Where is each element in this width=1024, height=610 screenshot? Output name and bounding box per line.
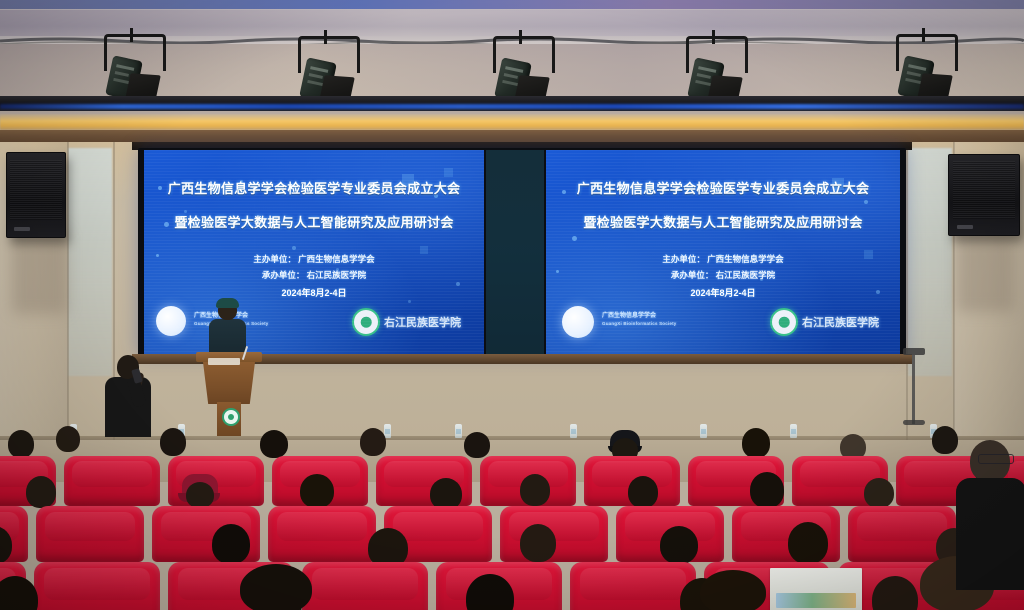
- slide-left: 广西生物信息学学会检验医学专业委员会成立大会 暨检验医学大数据与人工智能研究及应…: [144, 150, 484, 354]
- slide-organizer-right: 主办单位： 广西生物信息学学会: [546, 253, 900, 265]
- wall-glass-strip-left: [68, 148, 112, 376]
- foreground-head: [700, 570, 766, 610]
- society-logo-cn-right: 广西生物信息学学会: [602, 313, 656, 319]
- university-emblem-right: [770, 308, 798, 336]
- slide-title-line-2-right: 暨检验医学大数据与人工智能研究及应用研讨会: [546, 212, 900, 231]
- ceiling-sheen: [0, 10, 1024, 36]
- slide-date-left: 2024年8月2-4日: [144, 286, 484, 299]
- standing-attendee: [960, 440, 1024, 590]
- auditorium-scene: 广西生物信息学学会检验医学专业委员会成立大会 暨检验医学大数据与人工智能研究及应…: [0, 0, 1024, 610]
- slide-moon-graphic-left: [156, 306, 186, 336]
- glasses-icon: [978, 454, 1014, 464]
- slide-moon-graphic-right: [562, 306, 594, 338]
- slide-date-right: 2024年8月2-4日: [546, 286, 900, 299]
- university-name-left: 右江民族医学院: [384, 314, 461, 330]
- led-panel-center-unlit: [486, 150, 544, 354]
- slide-right: 广西生物信息学学会检验医学专业委员会成立大会 暨检验医学大数据与人工智能研究及应…: [546, 150, 900, 354]
- slide-title-line-1: 广西生物信息学学会检验医学专业委员会成立大会: [144, 178, 484, 197]
- slide-organizer-left: 主办单位： 广西生物信息学学会: [144, 253, 484, 265]
- ceiling-blue-wash: [0, 0, 1024, 9]
- wall-loudspeaker-left: [6, 152, 66, 238]
- wall-loudspeaker-right: [948, 154, 1020, 236]
- university-name-right: 右江民族医学院: [802, 314, 879, 330]
- university-emblem-left: [352, 308, 380, 336]
- slide-host-left: 承办单位： 右江民族医学院: [144, 269, 484, 281]
- audience-area: [0, 418, 1024, 610]
- led-panel-right: 广西生物信息学学会检验医学专业委员会成立大会 暨检验医学大数据与人工智能研究及应…: [546, 150, 900, 354]
- foreground-head: [240, 564, 312, 610]
- society-logo-right: 广西生物信息学学会 GuangXi Bioinformatics Society: [602, 312, 677, 328]
- led-panel-left: 广西生物信息学学会检验医学专业委员会成立大会 暨检验医学大数据与人工智能研究及应…: [144, 150, 484, 354]
- floor-microphone-stand: [912, 352, 915, 424]
- slide-title-line-1-right: 广西生物信息学学会检验医学专业委员会成立大会: [546, 178, 900, 197]
- wall-glass-strip-right: [908, 148, 952, 376]
- society-logo-en-right: GuangXi Bioinformatics Society: [602, 320, 677, 328]
- slide-host-right: 承办单位： 右江民族医学院: [546, 269, 900, 281]
- slide-title-line-2: 暨检验医学大数据与人工智能研究及应用研讨会: [144, 212, 484, 231]
- conference-booklet: [770, 568, 862, 610]
